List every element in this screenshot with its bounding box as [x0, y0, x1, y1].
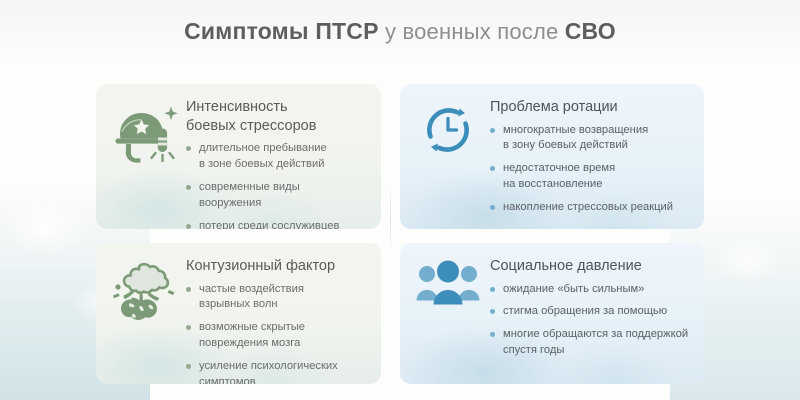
list-item: недостаточное время на восстановление: [490, 161, 690, 193]
brain-blast-icon: [108, 259, 180, 331]
infographic-page: Симптомы ПТСР у военных после СВО: [0, 0, 800, 400]
card-body: Интенсивность боевых стрессоров длительн…: [186, 96, 367, 229]
card-heading: Проблема ротации: [490, 98, 690, 117]
list-item: современные виды вооружения: [186, 180, 367, 212]
list-item: многократные возвращения в зону боевых д…: [490, 123, 690, 155]
list-item: длительное пребывание в зоне боевых дейс…: [186, 141, 367, 173]
clock-rotation-icon: [412, 100, 484, 172]
card-bullet-list: длительное пребывание в зоне боевых дейс…: [186, 141, 367, 229]
list-item: усиление психологических симптомов: [186, 359, 367, 384]
people-group-icon: [412, 259, 484, 331]
page-title: Симптомы ПТСР у военных после СВО: [0, 18, 800, 45]
card-body: Контузионный фактор частые воздействия в…: [186, 255, 367, 384]
card-body: Социальное давление ожидание «быть сильн…: [490, 255, 690, 366]
card-rotation-problem[interactable]: Проблема ротации многократные возвращени…: [400, 84, 704, 229]
card-heading: Социальное давление: [490, 257, 690, 276]
card-bullet-list: частые воздействия взрывных волн возможн…: [186, 282, 367, 384]
list-item: стигма обращения за помощью: [490, 304, 690, 320]
list-item: накопление стрессовых реакций: [490, 200, 690, 216]
card-bullet-list: многократные возвращения в зону боевых д…: [490, 123, 690, 217]
title-strong-start: Симптомы ПТСР: [184, 18, 379, 44]
card-combat-stressors[interactable]: Интенсивность боевых стрессоров длительн…: [96, 84, 381, 229]
card-heading: Контузионный фактор: [186, 257, 367, 276]
title-strong-end: СВО: [565, 18, 616, 44]
card-body: Проблема ротации многократные возвращени…: [490, 96, 690, 223]
title-light-middle: у военных после: [379, 19, 565, 44]
card-concussion-factor[interactable]: Контузионный фактор частые воздействия в…: [96, 243, 381, 384]
card-social-pressure[interactable]: Социальное давление ожидание «быть сильн…: [400, 243, 704, 384]
card-grid: Интенсивность боевых стрессоров длительн…: [96, 84, 704, 384]
list-item: многие обращаются за поддержкой спустя г…: [490, 327, 690, 359]
column-divider: [390, 184, 391, 254]
combat-helmet-icon: [108, 100, 180, 172]
card-heading: Интенсивность боевых стрессоров: [186, 98, 367, 135]
list-item: потери среди сослуживцев: [186, 219, 367, 229]
list-item: частые воздействия взрывных волн: [186, 282, 367, 314]
card-bullet-list: ожидание «быть сильным» стигма обращения…: [490, 282, 690, 360]
list-item: ожидание «быть сильным»: [490, 282, 690, 298]
list-item: возможные скрытые повреждения мозга: [186, 320, 367, 352]
